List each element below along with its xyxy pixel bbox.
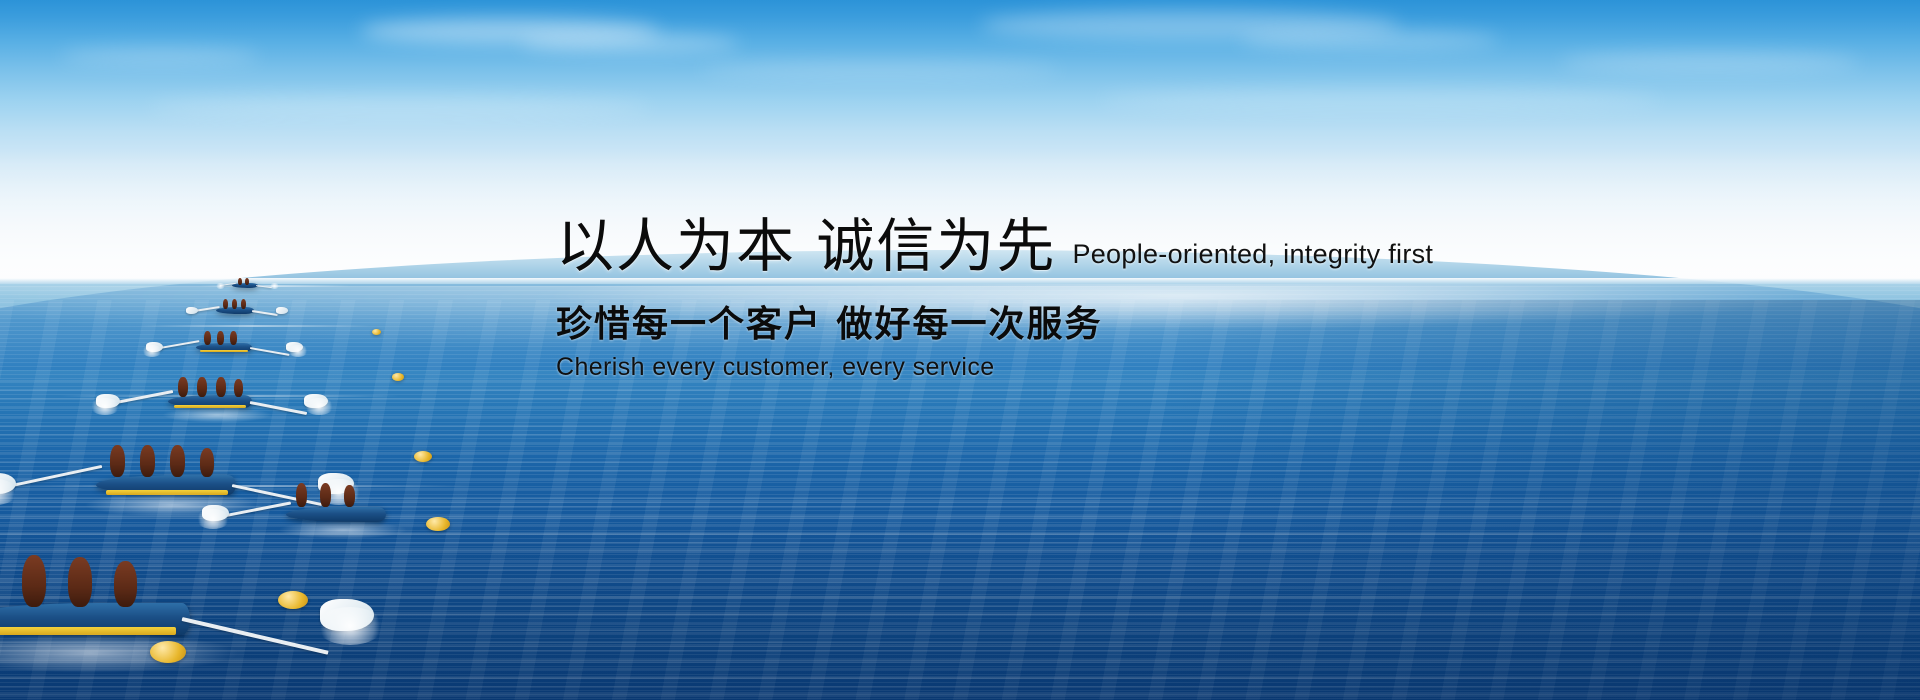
oar: [250, 347, 290, 356]
headline-translation: People-oriented, integrity first: [1072, 239, 1433, 277]
oar: [252, 310, 278, 316]
cloud: [60, 48, 260, 64]
oar-splash: [216, 283, 225, 289]
oar-blade: [186, 307, 198, 314]
cloud: [1100, 88, 1660, 112]
rower: [232, 299, 237, 309]
lane-streak: [140, 325, 370, 327]
rower: [241, 299, 246, 309]
rower: [68, 557, 92, 607]
lane-marker-buoy: [278, 591, 308, 609]
hero-banner: 以人为本 诚信为先 People-oriented, integrity fir…: [0, 0, 1920, 700]
lane-marker-buoy: [426, 517, 450, 531]
rower: [140, 445, 155, 477]
boat-wake: [162, 407, 272, 423]
oar-splash: [270, 283, 279, 289]
boat-hull: [286, 507, 386, 522]
rower: [170, 445, 185, 477]
lane-marker-buoy: [414, 451, 432, 462]
rower: [238, 278, 242, 285]
rower: [223, 299, 228, 309]
oar-splash: [142, 345, 162, 357]
cloud: [700, 62, 1060, 78]
banner-copy: 以人为本 诚信为先 People-oriented, integrity fir…: [556, 216, 1556, 382]
cloud: [1240, 30, 1500, 50]
oar-splash: [90, 398, 120, 415]
rower: [320, 483, 331, 507]
rower: [245, 278, 249, 285]
rower: [344, 485, 355, 507]
rower: [22, 555, 46, 607]
boat-wake: [278, 521, 408, 539]
cloud: [1560, 52, 1860, 72]
rower: [197, 377, 207, 397]
rower: [200, 448, 214, 477]
rower: [296, 483, 307, 507]
oar: [160, 340, 200, 349]
rower: [217, 331, 224, 345]
lane-marker-buoy: [392, 373, 404, 381]
lane-marker-buoy: [372, 329, 381, 335]
page-title: 以人为本 诚信为先: [556, 216, 1056, 277]
cloud: [150, 96, 650, 118]
rower: [178, 377, 188, 397]
rower: [204, 331, 211, 345]
oar-splash: [316, 607, 384, 645]
oar-splash: [288, 345, 308, 357]
rower: [110, 445, 125, 477]
oar-blade: [276, 307, 288, 314]
oar: [12, 465, 103, 487]
oar-splash: [196, 509, 230, 529]
rower: [216, 377, 226, 397]
rower: [230, 331, 237, 345]
rower: [234, 379, 243, 397]
oar-splash: [304, 398, 334, 415]
hull-stripe: [200, 350, 248, 352]
boat-wake: [0, 633, 240, 673]
rower: [114, 561, 137, 607]
lane-marker-buoy: [150, 641, 186, 663]
cloud: [520, 34, 740, 52]
subheadline-translation: Cherish every customer, every service: [556, 353, 1556, 382]
headline-row: 以人为本 诚信为先 People-oriented, integrity fir…: [556, 216, 1556, 277]
subheadline: 珍惜每一个客户 做好每一次服务: [556, 295, 1556, 347]
